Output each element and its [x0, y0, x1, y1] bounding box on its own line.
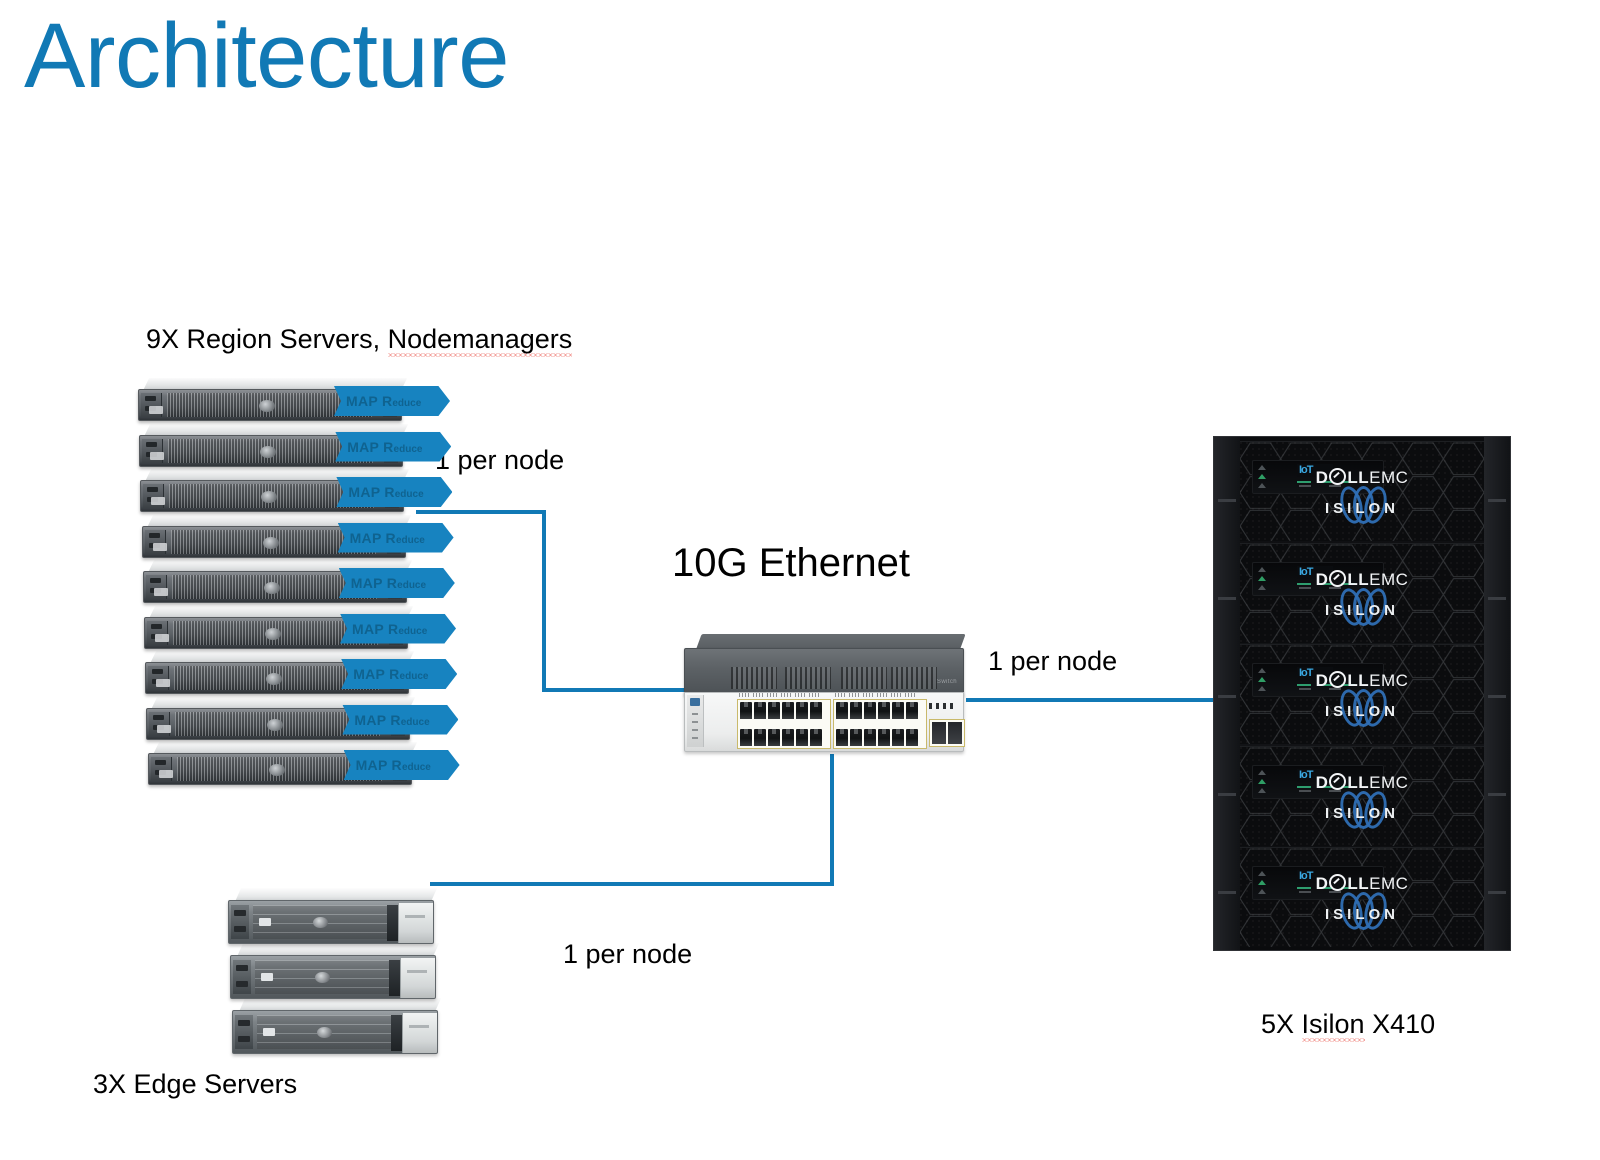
sfp-port	[932, 722, 946, 744]
compute-server-node[interactable]: MAP Reduce	[138, 378, 410, 422]
isilon-branding: DLLEMC	[1287, 669, 1437, 689]
server-drive-bay	[156, 679, 170, 687]
label-per-node-isilon: 1 per node	[988, 646, 1117, 677]
switch-model-text: Switch	[937, 679, 957, 685]
rack-rail-right	[1484, 437, 1510, 950]
label-isilon-prefix: 5X	[1261, 1009, 1302, 1039]
switch-rj45-port[interactable]	[754, 702, 766, 719]
edge-server-node[interactable]	[228, 888, 440, 944]
rack-rail-left	[1214, 437, 1240, 950]
switch-console-port	[690, 698, 700, 706]
server-drive-bay	[157, 725, 171, 733]
connector-isilon-horizontal	[966, 698, 1216, 702]
port-number	[795, 693, 807, 697]
page-title: Architecture	[24, 8, 509, 105]
mapreduce-badge-label: MAP Reduce	[347, 439, 422, 455]
label-region-servers-text: 9X Region Servers,	[146, 324, 388, 354]
rack-notch	[1488, 793, 1506, 796]
switch-rj45-port[interactable]	[768, 729, 780, 746]
server-vendor-badge	[259, 400, 275, 412]
switch-sfp-uplink-ports[interactable]	[929, 719, 965, 747]
mapreduce-badge: MAP Reduce	[334, 386, 450, 416]
edge-rack-ear-left	[235, 1015, 253, 1049]
label-isilon-misspelled: Isilon	[1302, 1009, 1365, 1042]
edge-status-led	[263, 1028, 275, 1036]
connector-edge-horizontal	[430, 882, 834, 886]
isilon-branding: DLLEMC	[1287, 872, 1437, 892]
switch-rj45-port[interactable]	[810, 729, 822, 746]
port-number	[849, 693, 861, 697]
switch-port-row	[836, 702, 924, 719]
dellemc-logo: DLLEMC	[1287, 466, 1437, 486]
dell-oval-icon	[1329, 570, 1346, 587]
edge-right-panel	[398, 903, 433, 943]
switch-rj45-port[interactable]	[892, 729, 904, 746]
isilon-node[interactable]: IoTDLLEMCISILON	[1240, 644, 1484, 744]
switch-rj45-port[interactable]	[836, 702, 848, 719]
edge-server-chassis	[228, 900, 434, 944]
isilon-wordmark: ISILON	[1325, 602, 1399, 619]
isilon-node[interactable]: IoTDLLEMCISILON	[1240, 746, 1484, 846]
port-number	[863, 693, 875, 697]
port-number	[877, 693, 889, 697]
switch-port-row	[836, 729, 924, 746]
switch-led-3	[692, 729, 698, 731]
lcd-arrow-icons	[1258, 870, 1272, 896]
mapreduce-badge: MAP Reduce	[340, 614, 456, 644]
port-number	[809, 693, 821, 697]
slide-canvas: Architecture 9X Region Servers, Nodemana…	[0, 0, 1600, 1160]
label-nodemanagers-misspelled: Nodemanagers	[388, 324, 573, 357]
rack-notch	[1218, 499, 1236, 502]
switch-rj45-port[interactable]	[796, 729, 808, 746]
status-dot	[950, 703, 953, 709]
server-drive-bay	[149, 406, 163, 414]
rack-notch	[1218, 793, 1236, 796]
mapreduce-badge-label: MAP Reduce	[351, 575, 426, 591]
edge-right-panel	[400, 958, 435, 998]
mapreduce-badge-label: MAP Reduce	[354, 712, 429, 728]
isilon-wordmark: ISILON	[1325, 500, 1399, 517]
server-drive-bay	[155, 634, 169, 642]
compute-server-node[interactable]: MAP Reduce	[144, 606, 416, 650]
edge-vendor-badge	[317, 1027, 332, 1038]
switch-port-bank-2[interactable]	[833, 699, 927, 749]
server-drive-bay	[159, 770, 173, 778]
mapreduce-badge: MAP Reduce	[342, 705, 458, 735]
switch-rj45-port[interactable]	[740, 729, 752, 746]
connector-servers-horizontal-top	[416, 510, 546, 514]
switch-vent-4	[891, 667, 937, 689]
edge-server-node[interactable]	[230, 943, 442, 999]
server-drive-bay	[150, 452, 164, 460]
connector-edge-vertical	[830, 754, 834, 886]
switch-port-bank-1[interactable]	[737, 699, 831, 749]
port-number	[739, 693, 751, 697]
status-dot	[936, 703, 939, 709]
isilon-node[interactable]: IoTDLLEMCISILON	[1240, 543, 1484, 643]
switch-upper-chassis: Switch	[684, 648, 964, 696]
rack-notch	[1488, 891, 1506, 894]
edge-vendor-badge	[313, 917, 328, 928]
mapreduce-badge-label: MAP Reduce	[350, 530, 425, 546]
isilon-wordmark: ISILON	[1325, 906, 1399, 923]
compute-server-node[interactable]: MAP Reduce	[145, 651, 417, 695]
mapreduce-badge: MAP Reduce	[338, 523, 454, 553]
label-region-servers: 9X Region Servers, Nodemanagers	[146, 324, 572, 355]
dellemc-logo: DLLEMC	[1287, 568, 1437, 588]
switch-vent-1	[731, 667, 777, 689]
isilon-storage-rack[interactable]: IoTDLLEMCISILONIoTDLLEMCISILONIoTDLLEMCI…	[1213, 436, 1511, 951]
server-vendor-badge	[260, 446, 276, 458]
dellemc-logo: DLLEMC	[1287, 771, 1437, 791]
mapreduce-badge-label: MAP Reduce	[352, 621, 427, 637]
switch-rj45-port[interactable]	[850, 729, 862, 746]
mapreduce-badge-label: MAP Reduce	[356, 757, 431, 773]
compute-server-node[interactable]: MAP Reduce	[148, 742, 420, 786]
isilon-node[interactable]: IoTDLLEMCISILON	[1240, 847, 1484, 947]
switch-rj45-port[interactable]	[864, 702, 876, 719]
status-dot	[929, 703, 932, 709]
switch-vent-2	[785, 667, 831, 689]
switch-rj45-port[interactable]	[850, 702, 862, 719]
edge-status-led	[261, 973, 273, 981]
server-vendor-badge	[263, 537, 279, 549]
label-per-node-servers: 1 per node	[435, 445, 564, 476]
mapreduce-badge-label: MAP Reduce	[346, 393, 421, 409]
server-vendor-badge	[269, 764, 285, 776]
rack-notch	[1218, 695, 1236, 698]
rack-notch	[1218, 597, 1236, 600]
switch-rj45-port[interactable]	[782, 702, 794, 719]
dell-oval-icon	[1329, 671, 1346, 688]
dell-oval-icon	[1329, 773, 1346, 790]
server-drive-bay	[153, 543, 167, 551]
dellemc-logo: DLLEMC	[1287, 669, 1437, 689]
connector-servers-vertical	[542, 510, 546, 692]
switch-status-indicators	[929, 703, 953, 709]
port-number	[905, 693, 917, 697]
switch-rj45-port[interactable]	[796, 702, 808, 719]
switch-rj45-port[interactable]	[864, 729, 876, 746]
edge-rack-ear-left	[233, 960, 251, 994]
server-vendor-badge	[264, 582, 280, 594]
label-10g-ethernet: 10G Ethernet	[672, 541, 910, 586]
switch-port-row	[740, 729, 828, 746]
switch-rj45-port[interactable]	[906, 729, 918, 746]
switch-rj45-port[interactable]	[740, 702, 752, 719]
isilon-wordmark: ISILON	[1325, 805, 1399, 822]
compute-server-node[interactable]: MAP Reduce	[146, 697, 418, 741]
mapreduce-badge: MAP Reduce	[335, 432, 451, 462]
edge-right-panel	[402, 1013, 437, 1053]
label-edge-servers: 3X Edge Servers	[93, 1069, 297, 1100]
switch-rj45-port[interactable]	[878, 702, 890, 719]
compute-server-node[interactable]: MAP Reduce	[142, 515, 414, 559]
switch-rj45-port[interactable]	[892, 702, 904, 719]
dell-oval-icon	[1329, 874, 1346, 891]
rack-notch	[1218, 891, 1236, 894]
mapreduce-badge: MAP Reduce	[344, 750, 460, 780]
network-switch[interactable]: Switch	[684, 634, 976, 754]
mapreduce-badge-label: MAP Reduce	[348, 484, 423, 500]
compute-server-node[interactable]: MAP Reduce	[140, 469, 412, 513]
rack-notch	[1488, 695, 1506, 698]
port-number	[781, 693, 793, 697]
label-isilon-count: 5X Isilon X410	[1261, 1009, 1435, 1040]
port-number	[835, 693, 847, 697]
sfp-port	[948, 722, 962, 744]
switch-led-1	[692, 713, 698, 715]
switch-rj45-port[interactable]	[810, 702, 822, 719]
connector-servers-horizontal-bottom	[542, 688, 690, 692]
isilon-branding: DLLEMC	[1287, 568, 1437, 588]
switch-led-2	[692, 721, 698, 723]
edge-vendor-badge	[315, 972, 330, 983]
label-isilon-suffix: X410	[1365, 1009, 1436, 1039]
edge-server-node[interactable]	[232, 998, 444, 1054]
compute-server-node[interactable]: MAP Reduce	[139, 424, 411, 468]
mapreduce-badge: MAP Reduce	[341, 659, 457, 689]
server-drive-bay	[151, 497, 165, 505]
dellemc-logo: DLLEMC	[1287, 872, 1437, 892]
switch-console-panel	[687, 695, 704, 747]
mapreduce-badge: MAP Reduce	[336, 477, 452, 507]
switch-rj45-port[interactable]	[768, 702, 780, 719]
mapreduce-badge-label: MAP Reduce	[353, 666, 428, 682]
switch-rj45-port[interactable]	[754, 729, 766, 746]
mapreduce-badge: MAP Reduce	[339, 568, 455, 598]
label-per-node-edge: 1 per node	[563, 939, 692, 970]
port-number	[891, 693, 903, 697]
isilon-node[interactable]: IoTDLLEMCISILON	[1240, 441, 1484, 541]
switch-led-4	[692, 737, 698, 739]
rack-notch	[1488, 597, 1506, 600]
lcd-arrow-icons	[1258, 769, 1272, 795]
isilon-wordmark: ISILON	[1325, 703, 1399, 720]
server-drive-bay	[154, 588, 168, 596]
lcd-arrow-icons	[1258, 464, 1272, 490]
switch-port-numbers-bank-2	[835, 693, 917, 698]
switch-rj45-port[interactable]	[906, 702, 918, 719]
switch-port-numbers-bank-1	[739, 693, 821, 698]
isilon-branding: DLLEMC	[1287, 466, 1437, 486]
compute-server-node[interactable]: MAP Reduce	[143, 560, 415, 604]
status-dot	[943, 703, 946, 709]
edge-status-led	[259, 918, 271, 926]
server-vendor-badge	[265, 628, 281, 640]
dell-oval-icon	[1329, 468, 1346, 485]
edge-server-chassis	[230, 955, 436, 999]
port-number	[767, 693, 779, 697]
lcd-arrow-icons	[1258, 566, 1272, 592]
switch-rj45-port[interactable]	[782, 729, 794, 746]
lcd-arrow-icons	[1258, 667, 1272, 693]
switch-front-panel	[684, 692, 964, 752]
isilon-branding: DLLEMC	[1287, 771, 1437, 791]
server-vendor-badge	[267, 719, 283, 731]
edge-rack-ear-left	[231, 905, 249, 939]
switch-rj45-port[interactable]	[836, 729, 848, 746]
switch-vent-3	[841, 667, 887, 689]
switch-port-row	[740, 702, 828, 719]
rack-notch	[1488, 499, 1506, 502]
switch-rj45-port[interactable]	[878, 729, 890, 746]
edge-server-chassis	[232, 1010, 438, 1054]
port-number	[753, 693, 765, 697]
